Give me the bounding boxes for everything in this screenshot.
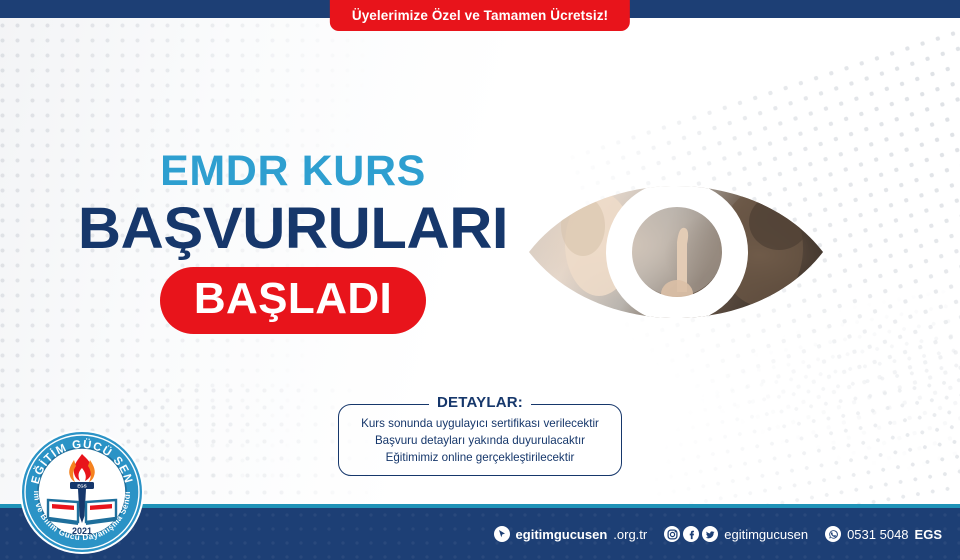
details-line: Başvuru detayları yakında duyurulacaktır [349,433,611,450]
footer-website[interactable]: egitimgucusen.org.tr [494,526,648,542]
headline-line-1: EMDR KURS [78,150,508,193]
phone-number: 0531 5048 [847,528,908,541]
website-tld: .org.tr [613,528,647,541]
footer-phone[interactable]: 0531 5048 EGS [825,526,942,542]
instagram-icon[interactable] [664,526,680,542]
promotional-banner: Üyelerimize Özel ve Tamamen Ücretsiz! EM… [0,0,960,560]
details-line: Kurs sonunda uygulayıcı sertifikası veri… [349,416,611,433]
promo-badge: Üyelerimize Özel ve Tamamen Ücretsiz! [330,0,630,31]
cursor-icon [494,526,510,542]
organization-logo: EĞİTİM GÜCÜ SEN Eğitim ve Bilim Gücü Day… [18,428,146,556]
twitter-icon[interactable] [702,526,718,542]
headline-pill-basladi: BAŞLADI [160,267,426,334]
headline-pill-wrap: BAŞLADI [78,267,508,334]
footer-social[interactable]: egitimgucusen [664,526,808,542]
website-name: egitimgucusen [516,528,608,541]
details-box: DETAYLAR: Kurs sonunda uygulayıcı sertif… [338,404,622,476]
phone-suffix: EGS [915,528,942,541]
social-icon-group [664,526,718,542]
whatsapp-icon [825,526,841,542]
logo-torch-initials: EGS [77,484,86,489]
social-handle: egitimgucusen [724,528,808,541]
headline-line-2: BAŞVURULARI [72,199,515,258]
details-line: Eğitimimiz online gerçekleştirilecektir [349,450,611,467]
eye-shaped-photo [527,172,825,332]
headline-block: EMDR KURS BAŞVURULARI BAŞLADI [78,150,508,334]
footer-contact-row: egitimgucusen.org.tr [494,526,942,542]
details-title: DETAYLAR: [429,395,531,410]
logo-year: 2021 [72,526,92,536]
facebook-icon[interactable] [683,526,699,542]
